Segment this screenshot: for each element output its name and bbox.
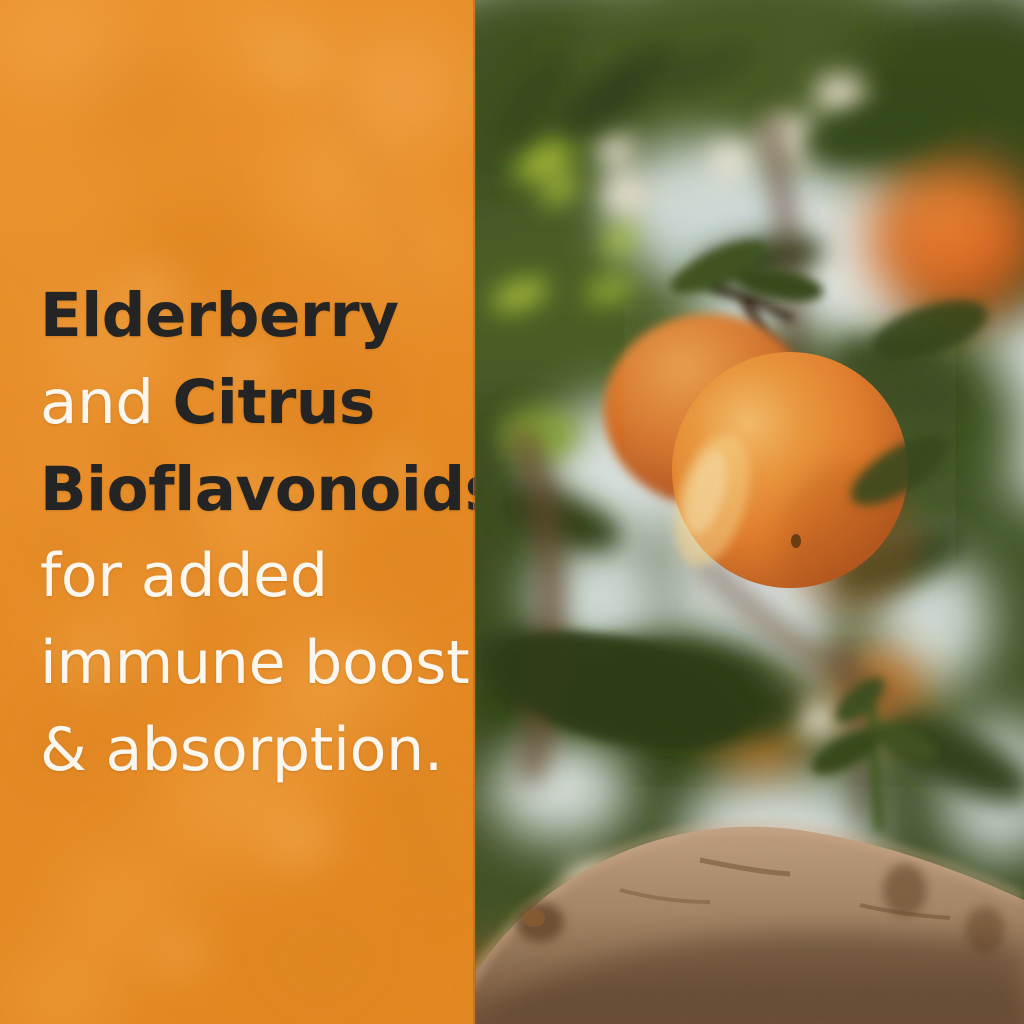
headline-word-elderberry: Elderberry <box>40 280 399 351</box>
body-line-3: & absorption. <box>40 707 472 794</box>
headline-line-2: and Citrus <box>40 359 472 446</box>
body-line-2: immune boost <box>40 620 472 707</box>
body-line-1: for added <box>40 533 472 620</box>
marketing-copy-block: Elderberry and Citrus Bioflavonoids for … <box>40 272 472 794</box>
product-marketing-image: Elderberry and Citrus Bioflavonoids for … <box>0 0 1024 1024</box>
headline-word-bioflavonoids: Bioflavonoids <box>40 454 475 525</box>
orange-text-panel: Elderberry and Citrus Bioflavonoids for … <box>0 0 475 1024</box>
headline-line-3: Bioflavonoids <box>40 446 472 533</box>
headline-word-citrus: Citrus <box>173 367 375 438</box>
headline-word-and: and <box>40 367 173 438</box>
headline-line-1: Elderberry <box>40 272 472 359</box>
panel-photo-divider <box>473 0 476 1024</box>
